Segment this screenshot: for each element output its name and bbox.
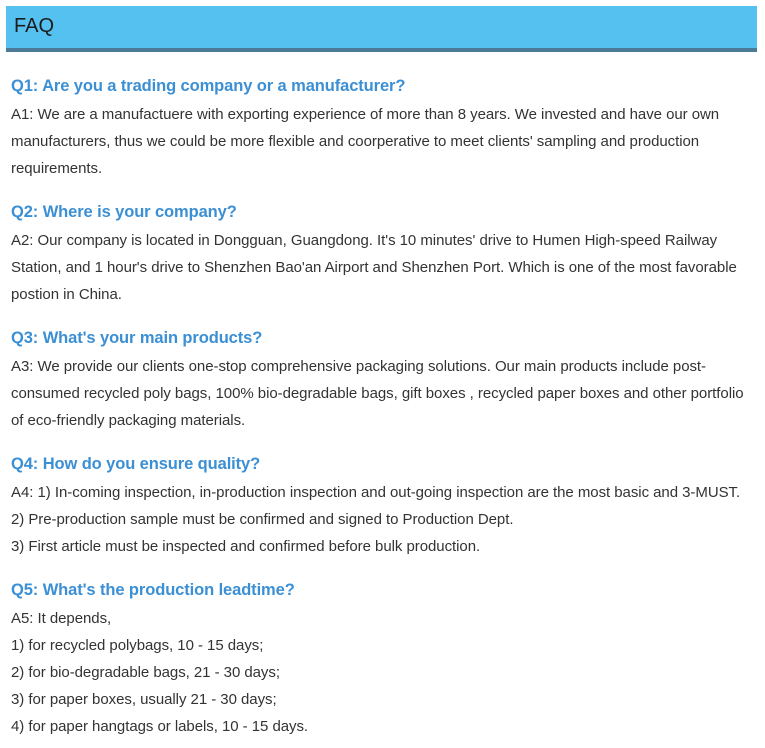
faq-banner-title: FAQ [14,14,54,38]
faq-answer-line: 2) Pre-production sample must be confirm… [11,506,751,533]
faq-answer: A5: It depends, 1) for recycled polybags… [11,605,751,740]
faq-item: Q3: What's your main products? A3: We pr… [0,308,765,434]
faq-answer-line: 3) for paper boxes, usually 21 - 30 days… [11,686,751,713]
faq-answer-line: A4: 1) In-coming inspection, in-producti… [11,479,751,506]
faq-question: Q2: Where is your company? [11,182,751,227]
faq-item: Q5: What's the production leadtime? A5: … [0,560,765,740]
faq-item: Q2: Where is your company? A2: Our compa… [0,182,765,308]
faq-answer: A3: We provide our clients one-stop comp… [11,353,751,434]
faq-answer: A2: Our company is located in Dongguan, … [11,227,751,308]
faq-answer-line: A3: We provide our clients one-stop comp… [11,353,751,434]
faq-answer-line: 1) for recycled polybags, 10 - 15 days; [11,632,751,659]
faq-answer-line: A5: It depends, [11,605,751,632]
faq-item: Q4: How do you ensure quality? A4: 1) In… [0,434,765,560]
faq-answer-line: 4) for paper hangtags or labels, 10 - 15… [11,713,751,740]
faq-answer: A1: We are a manufactuere with exporting… [11,101,751,182]
faq-list: Q1: Are you a trading company or a manuf… [0,56,765,740]
faq-item: Q1: Are you a trading company or a manuf… [0,56,765,182]
faq-question: Q5: What's the production leadtime? [11,560,751,605]
faq-banner: FAQ [6,6,757,52]
faq-answer-line: 3) First article must be inspected and c… [11,533,751,560]
faq-question: Q4: How do you ensure quality? [11,434,751,479]
faq-question: Q1: Are you a trading company or a manuf… [11,56,751,101]
faq-answer-line: 2) for bio-degradable bags, 21 - 30 days… [11,659,751,686]
faq-page: FAQ Q1: Are you a trading company or a m… [0,0,765,748]
faq-answer-line: A1: We are a manufactuere with exporting… [11,101,751,182]
faq-answer: A4: 1) In-coming inspection, in-producti… [11,479,751,560]
faq-answer-line: A2: Our company is located in Dongguan, … [11,227,751,308]
faq-question: Q3: What's your main products? [11,308,751,353]
